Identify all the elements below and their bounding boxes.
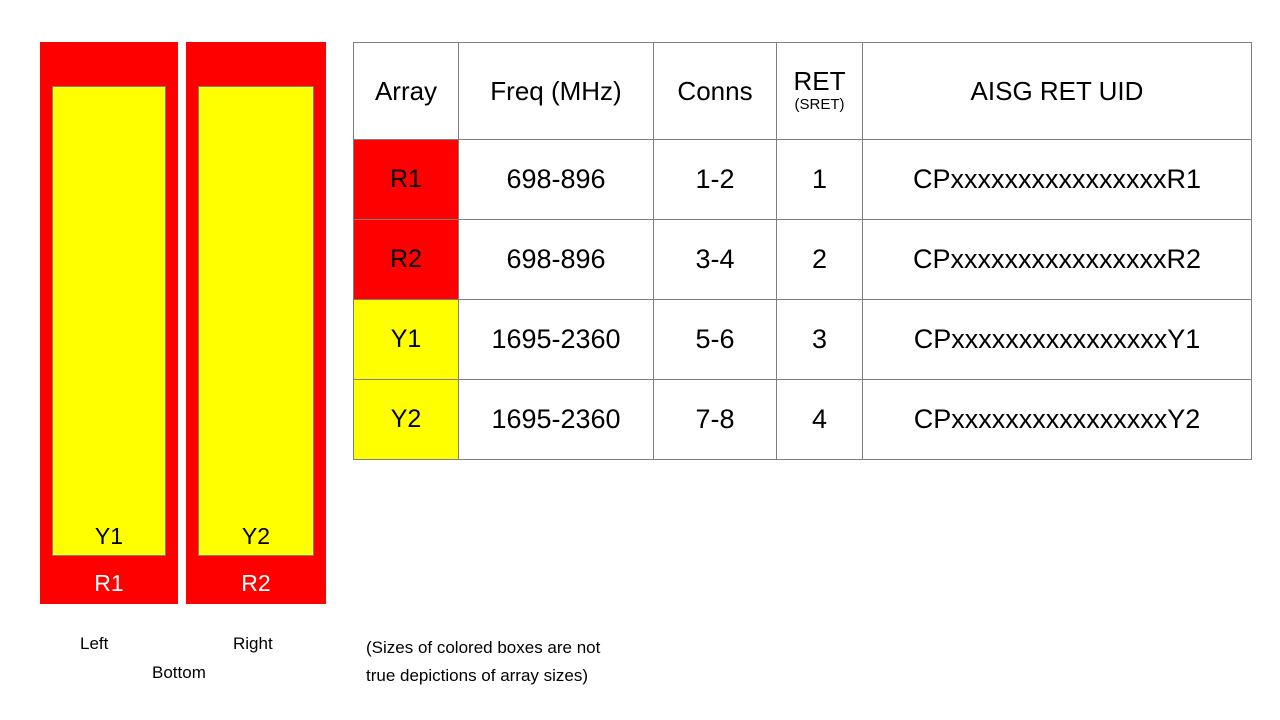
antenna-array-diagram: Y1 R1 Y2 R2 Left Right Bottom — [0, 0, 352, 720]
cell-array: Y1 — [354, 300, 459, 380]
cell-array: R2 — [354, 220, 459, 300]
cell-conns: 3-4 — [654, 220, 777, 300]
cell-conns: 7-8 — [654, 380, 777, 460]
table-header-row: Array Freq (MHz) Conns RET (SRET) AISG R… — [354, 43, 1252, 140]
array-inner-block-y1: Y1 — [52, 86, 166, 556]
column-header-array: Array — [354, 43, 459, 140]
array-label-y2: Y2 — [199, 524, 313, 549]
table-row: Y2 1695-2360 7-8 4 CPxxxxxxxxxxxxxxxxY2 — [354, 380, 1252, 460]
footnote-line-1: (Sizes of colored boxes are not — [366, 634, 766, 662]
cell-array: Y2 — [354, 380, 459, 460]
cell-uid: CPxxxxxxxxxxxxxxxxR1 — [863, 140, 1252, 220]
cell-uid: CPxxxxxxxxxxxxxxxxY2 — [863, 380, 1252, 460]
array-inner-block-y2: Y2 — [198, 86, 314, 556]
footnote-line-2: true depictions of array sizes) — [366, 662, 766, 690]
table-row: Y1 1695-2360 5-6 3 CPxxxxxxxxxxxxxxxxY1 — [354, 300, 1252, 380]
orientation-label-right: Right — [233, 634, 273, 654]
table-body: R1 698-896 1-2 1 CPxxxxxxxxxxxxxxxxR1 R2… — [354, 140, 1252, 460]
column-header-conns: Conns — [654, 43, 777, 140]
array-label-r2: R2 — [186, 571, 326, 596]
cell-ret: 1 — [777, 140, 863, 220]
orientation-label-left: Left — [80, 634, 108, 654]
cell-freq: 1695-2360 — [459, 380, 654, 460]
cell-ret: 4 — [777, 380, 863, 460]
cell-freq: 698-896 — [459, 140, 654, 220]
cell-conns: 5-6 — [654, 300, 777, 380]
cell-ret: 2 — [777, 220, 863, 300]
cell-ret: 3 — [777, 300, 863, 380]
column-header-ret: RET (SRET) — [777, 43, 863, 140]
column-header-aisg-ret-uid: AISG RET UID — [863, 43, 1252, 140]
array-block-right: Y2 R2 — [186, 42, 326, 604]
table-header: Array Freq (MHz) Conns RET (SRET) AISG R… — [354, 43, 1252, 140]
footnote: (Sizes of colored boxes are not true dep… — [366, 634, 766, 690]
cell-conns: 1-2 — [654, 140, 777, 220]
cell-uid: CPxxxxxxxxxxxxxxxxR2 — [863, 220, 1252, 300]
array-label-y1: Y1 — [53, 524, 165, 549]
cell-array: R1 — [354, 140, 459, 220]
cell-freq: 1695-2360 — [459, 300, 654, 380]
column-header-ret-sub: (SRET) — [777, 96, 862, 114]
column-header-ret-main: RET — [777, 68, 862, 95]
table-row: R1 698-896 1-2 1 CPxxxxxxxxxxxxxxxxR1 — [354, 140, 1252, 220]
table-row: R2 698-896 3-4 2 CPxxxxxxxxxxxxxxxxR2 — [354, 220, 1252, 300]
cell-freq: 698-896 — [459, 220, 654, 300]
column-header-freq: Freq (MHz) — [459, 43, 654, 140]
array-block-left: Y1 R1 — [40, 42, 178, 604]
orientation-label-bottom: Bottom — [152, 663, 206, 683]
antenna-spec-table: Array Freq (MHz) Conns RET (SRET) AISG R… — [353, 42, 1252, 460]
array-label-r1: R1 — [40, 571, 178, 596]
cell-uid: CPxxxxxxxxxxxxxxxxY1 — [863, 300, 1252, 380]
